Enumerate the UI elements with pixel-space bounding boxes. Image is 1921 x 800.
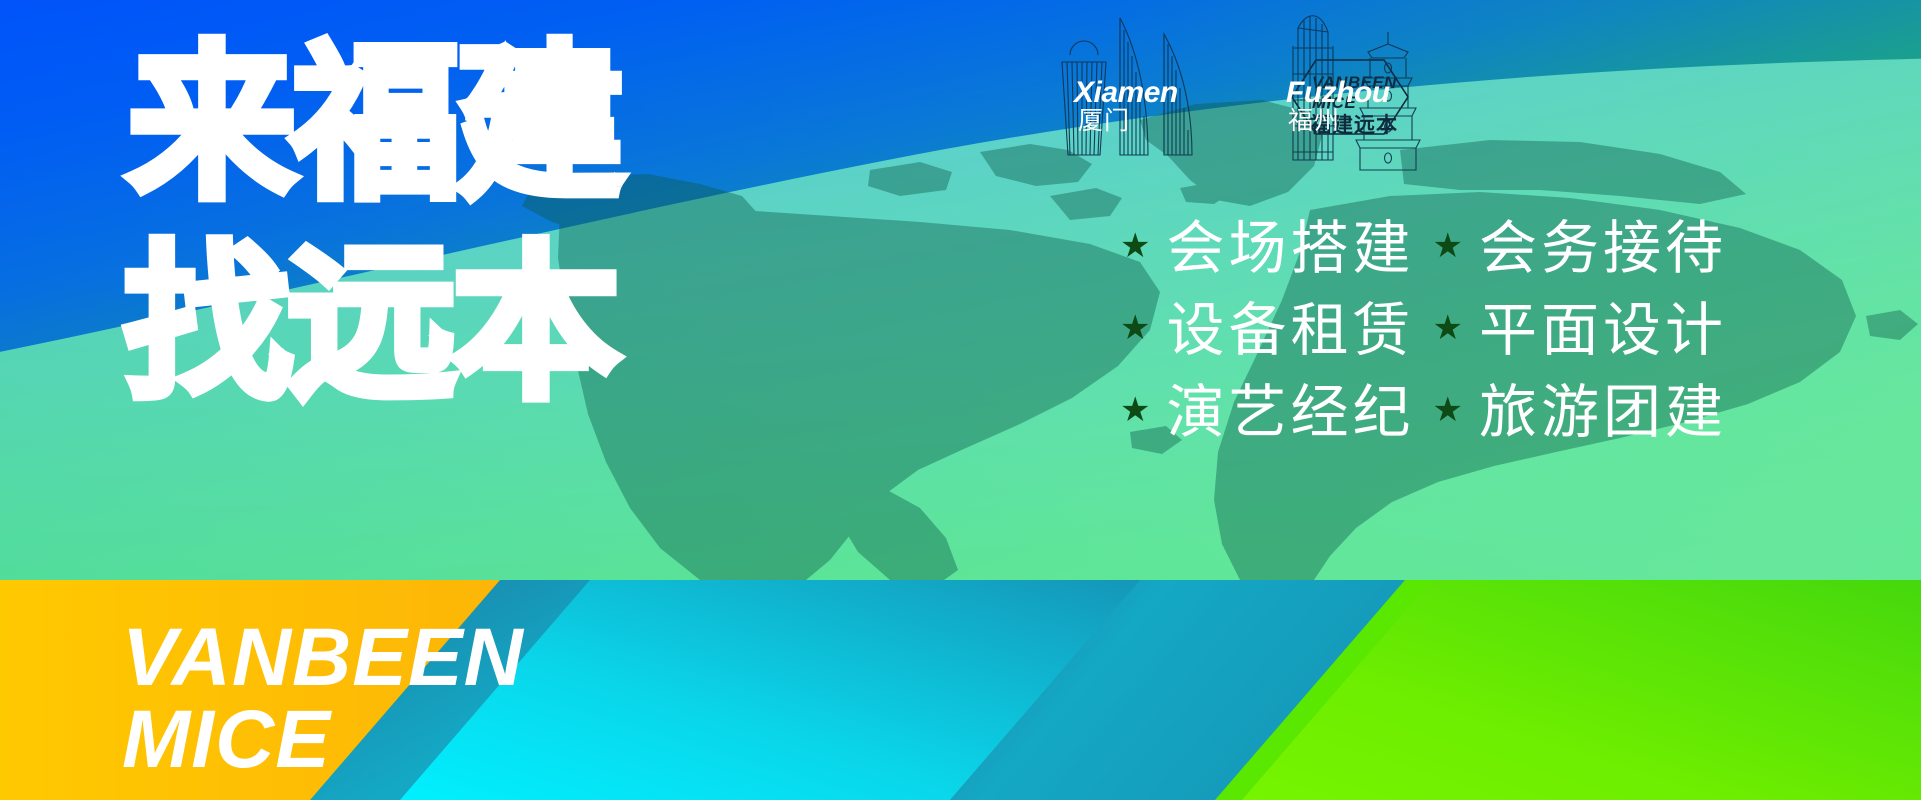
service-label-5: 旅游团建 bbox=[1479, 374, 1727, 450]
service-label-3: 平面设计 bbox=[1479, 292, 1727, 368]
service-label-2: 设备租赁 bbox=[1166, 292, 1414, 368]
service-label-4: 演艺经纪 bbox=[1166, 374, 1414, 450]
city-name-xiamen-en: Xiamen bbox=[1074, 78, 1178, 108]
city-name-fuzhou-en: Fuzhou bbox=[1286, 78, 1390, 108]
headline-line-1: 来福建 bbox=[128, 40, 620, 208]
headline-line-2: 找远本 bbox=[124, 240, 620, 408]
city-name-xiamen-cn: 厦门 bbox=[1078, 108, 1130, 134]
service-item-3: ★ 平面设计 bbox=[1433, 292, 1728, 368]
brand-wordmark: VANBEEN MICE bbox=[122, 618, 524, 782]
service-label-1: 会务接待 bbox=[1479, 210, 1727, 286]
services-list: ★ 会场搭建 ★ 会务接待 ★ 设备租赁 ★ 平面设计 ★ 演艺经纪 ★ 旅游团… bbox=[1120, 210, 1727, 450]
promotional-banner: 来福建 找远本 bbox=[0, 0, 1921, 800]
city-landmark-logo-cluster: Xiamen 厦门 VANBEEN MICE 福建远本 bbox=[1060, 0, 1460, 175]
service-item-5: ★ 旅游团建 bbox=[1433, 374, 1728, 450]
service-item-0: ★ 会场搭建 bbox=[1120, 210, 1415, 286]
city-name-fuzhou-cn: 福州 bbox=[1288, 108, 1340, 134]
service-label-0: 会场搭建 bbox=[1166, 210, 1414, 286]
star-icon: ★ bbox=[1433, 311, 1463, 345]
service-item-1: ★ 会务接待 bbox=[1433, 210, 1728, 286]
headline: 来福建 找远本 bbox=[128, 40, 620, 408]
service-item-2: ★ 设备租赁 bbox=[1120, 292, 1415, 368]
star-icon: ★ bbox=[1120, 311, 1150, 345]
star-icon: ★ bbox=[1120, 393, 1150, 427]
star-icon: ★ bbox=[1120, 229, 1150, 263]
bottom-brand-bar: VANBEEN MICE bbox=[0, 580, 1921, 800]
service-item-4: ★ 演艺经纪 bbox=[1120, 374, 1415, 450]
star-icon: ★ bbox=[1433, 229, 1463, 263]
brand-line-1: VANBEEN bbox=[122, 618, 524, 698]
star-icon: ★ bbox=[1433, 393, 1463, 427]
brand-line-2: MICE bbox=[122, 698, 524, 782]
